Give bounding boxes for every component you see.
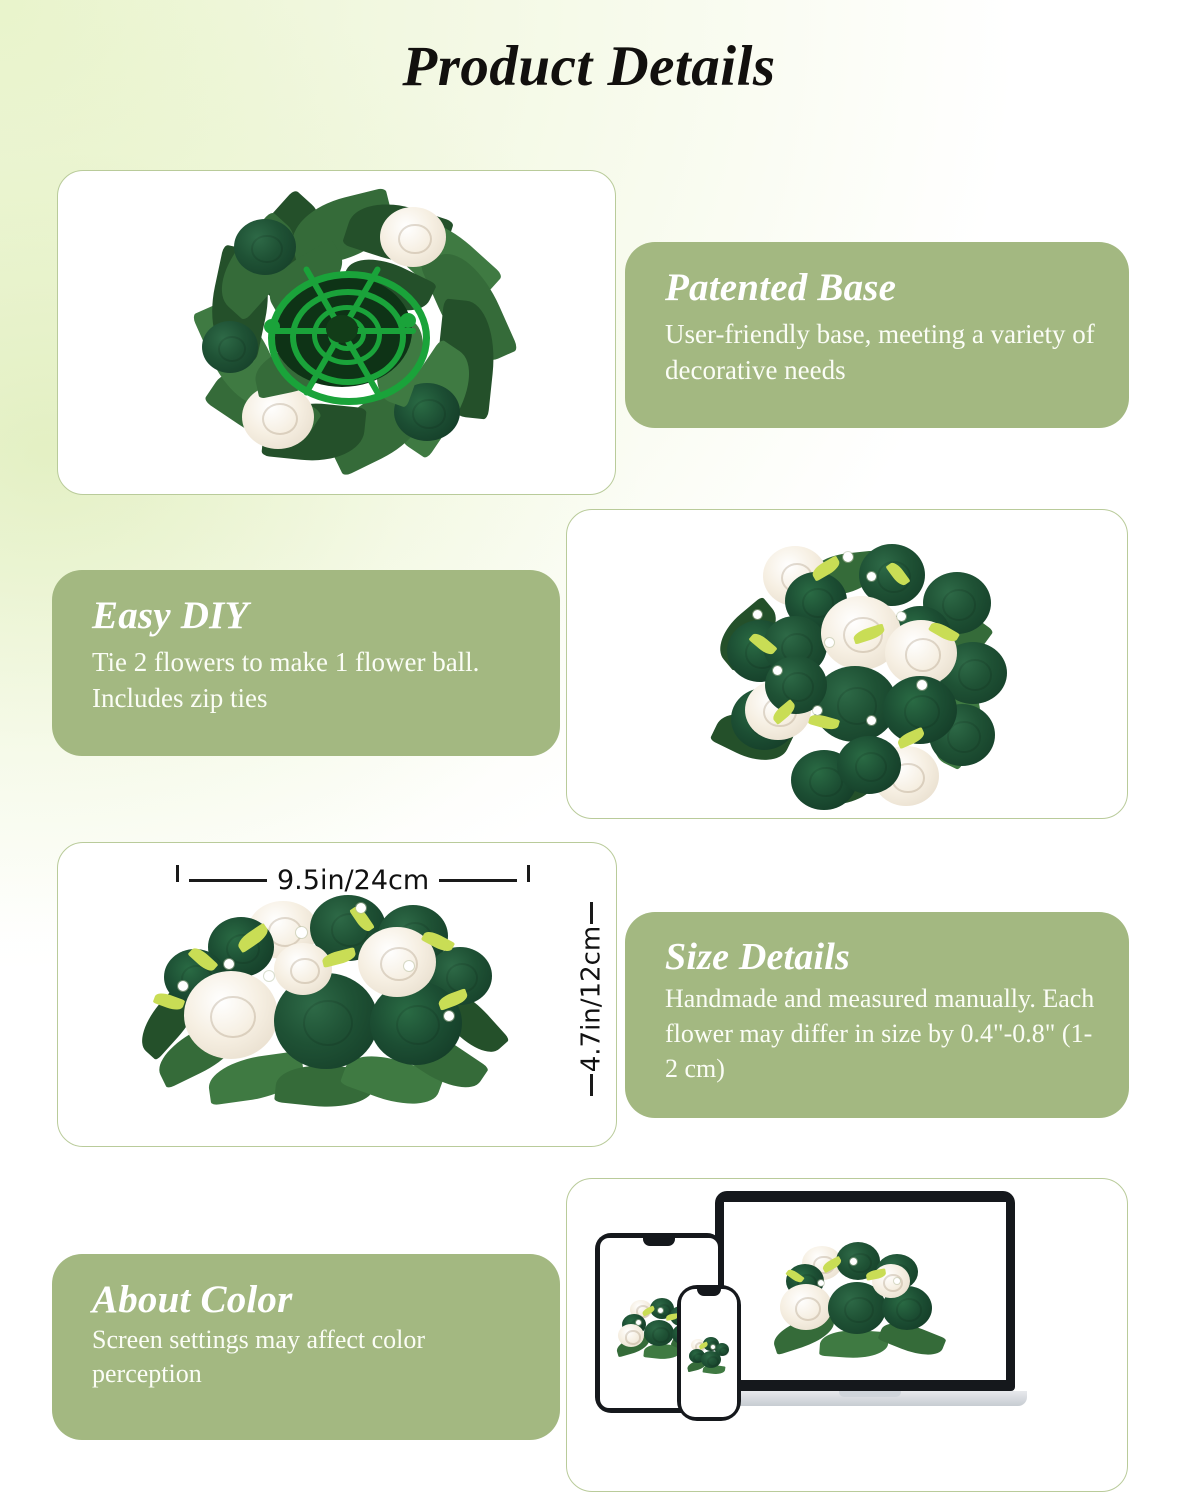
patented-base-illustration <box>58 171 615 494</box>
laptop-camera-notch <box>853 1191 879 1197</box>
laptop-trackpad-notch <box>839 1391 901 1397</box>
size-details-illustration: 9.5in/24cm 4.7in/12cm <box>58 843 616 1146</box>
feature-panel-patented-base: Patented Base User-friendly base, meetin… <box>625 242 1129 428</box>
flower-ball-image-card <box>566 509 1128 819</box>
size-details-image-card: 9.5in/24cm 4.7in/12cm <box>57 842 617 1147</box>
patented-base-image-card <box>57 170 616 495</box>
feature-heading-about-color: About Color <box>92 1280 526 1321</box>
flower-ball-illustration <box>567 510 1127 818</box>
width-bar-left <box>189 879 267 882</box>
phone-screen-content <box>681 1289 737 1417</box>
height-label: 4.7in/12cm <box>576 926 606 1073</box>
feature-panel-easy-diy: Easy DIY Tie 2 flowers to make 1 flower … <box>52 570 560 756</box>
feature-heading-patented-base: Patented Base <box>665 268 1095 309</box>
feature-heading-size-details: Size Details <box>665 938 1095 978</box>
laptop-screen-content <box>724 1202 1006 1380</box>
width-tick-left <box>176 865 179 882</box>
about-color-image-card <box>566 1178 1128 1492</box>
height-bar-top <box>590 902 593 924</box>
tablet-camera-notch <box>643 1238 675 1246</box>
feature-heading-easy-diy: Easy DIY <box>92 596 526 637</box>
width-label: 9.5in/24cm <box>277 865 429 896</box>
feature-body-easy-diy: Tie 2 flowers to make 1 flower ball. Inc… <box>92 645 526 716</box>
width-dimension: 9.5in/24cm <box>176 865 530 896</box>
feature-panel-about-color: About Color Screen settings may affect c… <box>52 1254 560 1440</box>
feature-body-patented-base: User-friendly base, meeting a variety of… <box>665 317 1095 388</box>
height-dimension: 4.7in/12cm <box>518 891 617 1107</box>
width-tick-right <box>527 865 530 882</box>
feature-body-size-details: Handmade and measured manually. Each flo… <box>665 982 1095 1086</box>
feature-panel-size-details: Size Details Handmade and measured manua… <box>625 912 1129 1118</box>
laptop-mockup <box>715 1191 1035 1419</box>
phone-camera-notch <box>697 1289 721 1296</box>
feature-body-about-color: Screen settings may affect color percept… <box>92 1323 526 1392</box>
width-bar-right <box>439 879 517 882</box>
phone-mockup <box>677 1285 741 1421</box>
height-bar-bottom <box>590 1074 593 1096</box>
page-title: Product Details <box>0 34 1178 99</box>
device-mockups-illustration <box>567 1179 1127 1491</box>
